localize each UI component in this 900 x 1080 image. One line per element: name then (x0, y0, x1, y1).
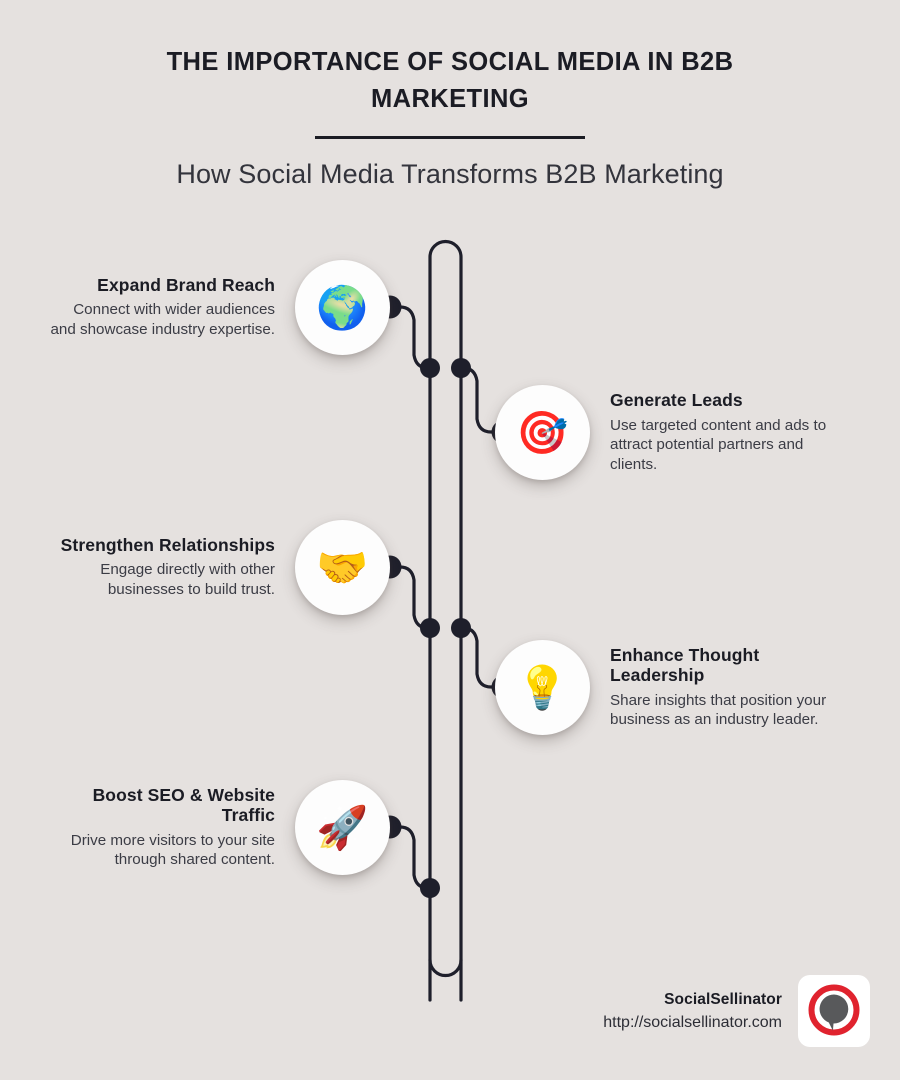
target-dart-icon: 🎯 (516, 412, 568, 454)
step-strengthen-relationships[interactable]: Strengthen Relationships Engage directly… (40, 520, 390, 615)
branch-boost-seo (388, 827, 430, 888)
step-text: Boost SEO & Website Traffic Drive more v… (47, 785, 275, 870)
infographic-canvas: THE IMPORTANCE OF SOCIAL MEDIA IN B2B MA… (0, 0, 900, 1080)
page-subtitle: How Social Media Transforms B2B Marketin… (0, 159, 900, 190)
step-text: Generate Leads Use targeted content and … (610, 390, 838, 475)
branch-expand-brand-reach (388, 307, 430, 368)
step-text: Enhance Thought Leadership Share insight… (610, 645, 838, 730)
step-title: Generate Leads (610, 390, 838, 410)
icon-bubble[interactable]: 🎯 (495, 385, 590, 480)
step-title: Expand Brand Reach (47, 275, 275, 295)
step-text: Expand Brand Reach Connect with wider au… (47, 275, 275, 340)
step-expand-brand-reach[interactable]: Expand Brand Reach Connect with wider au… (40, 260, 390, 355)
step-description: Connect with wider audiences and showcas… (47, 300, 275, 340)
step-description: Engage directly with other businesses to… (47, 560, 275, 600)
socialsellinator-logo-icon[interactable] (798, 975, 870, 1047)
node-expand-brand-reach-rail (420, 358, 440, 378)
step-boost-seo[interactable]: Boost SEO & Website Traffic Drive more v… (40, 780, 390, 875)
branch-strengthen-relationships (388, 567, 430, 628)
rail-top-loop (430, 241, 461, 1000)
header: THE IMPORTANCE OF SOCIAL MEDIA IN B2B MA… (0, 44, 900, 190)
step-text: Strengthen Relationships Engage directly… (47, 535, 275, 600)
brand-name: SocialSellinator (603, 988, 782, 1011)
footer-branding: SocialSellinator http://socialsellinator… (470, 975, 870, 1047)
step-description: Share insights that position your busine… (610, 691, 838, 731)
footer-text: SocialSellinator http://socialsellinator… (603, 988, 782, 1034)
step-generate-leads[interactable]: 🎯 Generate Leads Use targeted content an… (495, 385, 855, 480)
icon-bubble[interactable]: 🤝 (295, 520, 390, 615)
lightbulb-icon: 💡 (516, 667, 568, 709)
page-title: THE IMPORTANCE OF SOCIAL MEDIA IN B2B MA… (120, 44, 780, 118)
node-enhance-thought-leadership-rail (451, 618, 471, 638)
rail-bottom-loop (430, 960, 461, 976)
title-divider (315, 136, 585, 139)
step-title: Boost SEO & Website Traffic (47, 785, 275, 826)
node-generate-leads-rail (451, 358, 471, 378)
brand-url-link[interactable]: http://socialsellinator.com (603, 1011, 782, 1034)
logo-mark (805, 982, 863, 1040)
step-title: Enhance Thought Leadership (610, 645, 838, 686)
node-strengthen-relationships-rail (420, 618, 440, 638)
icon-bubble[interactable]: 💡 (495, 640, 590, 735)
handshake-icon: 🤝 (316, 547, 368, 589)
globe-icon: 🌍 (316, 287, 368, 329)
step-title: Strengthen Relationships (47, 535, 275, 555)
step-description: Use targeted content and ads to attract … (610, 416, 838, 475)
icon-bubble[interactable]: 🚀 (295, 780, 390, 875)
node-boost-seo-rail (420, 878, 440, 898)
icon-bubble[interactable]: 🌍 (295, 260, 390, 355)
step-description: Drive more visitors to your site through… (47, 831, 275, 871)
step-enhance-thought-leadership[interactable]: 💡 Enhance Thought Leadership Share insig… (495, 640, 855, 735)
rocket-icon: 🚀 (316, 807, 368, 849)
